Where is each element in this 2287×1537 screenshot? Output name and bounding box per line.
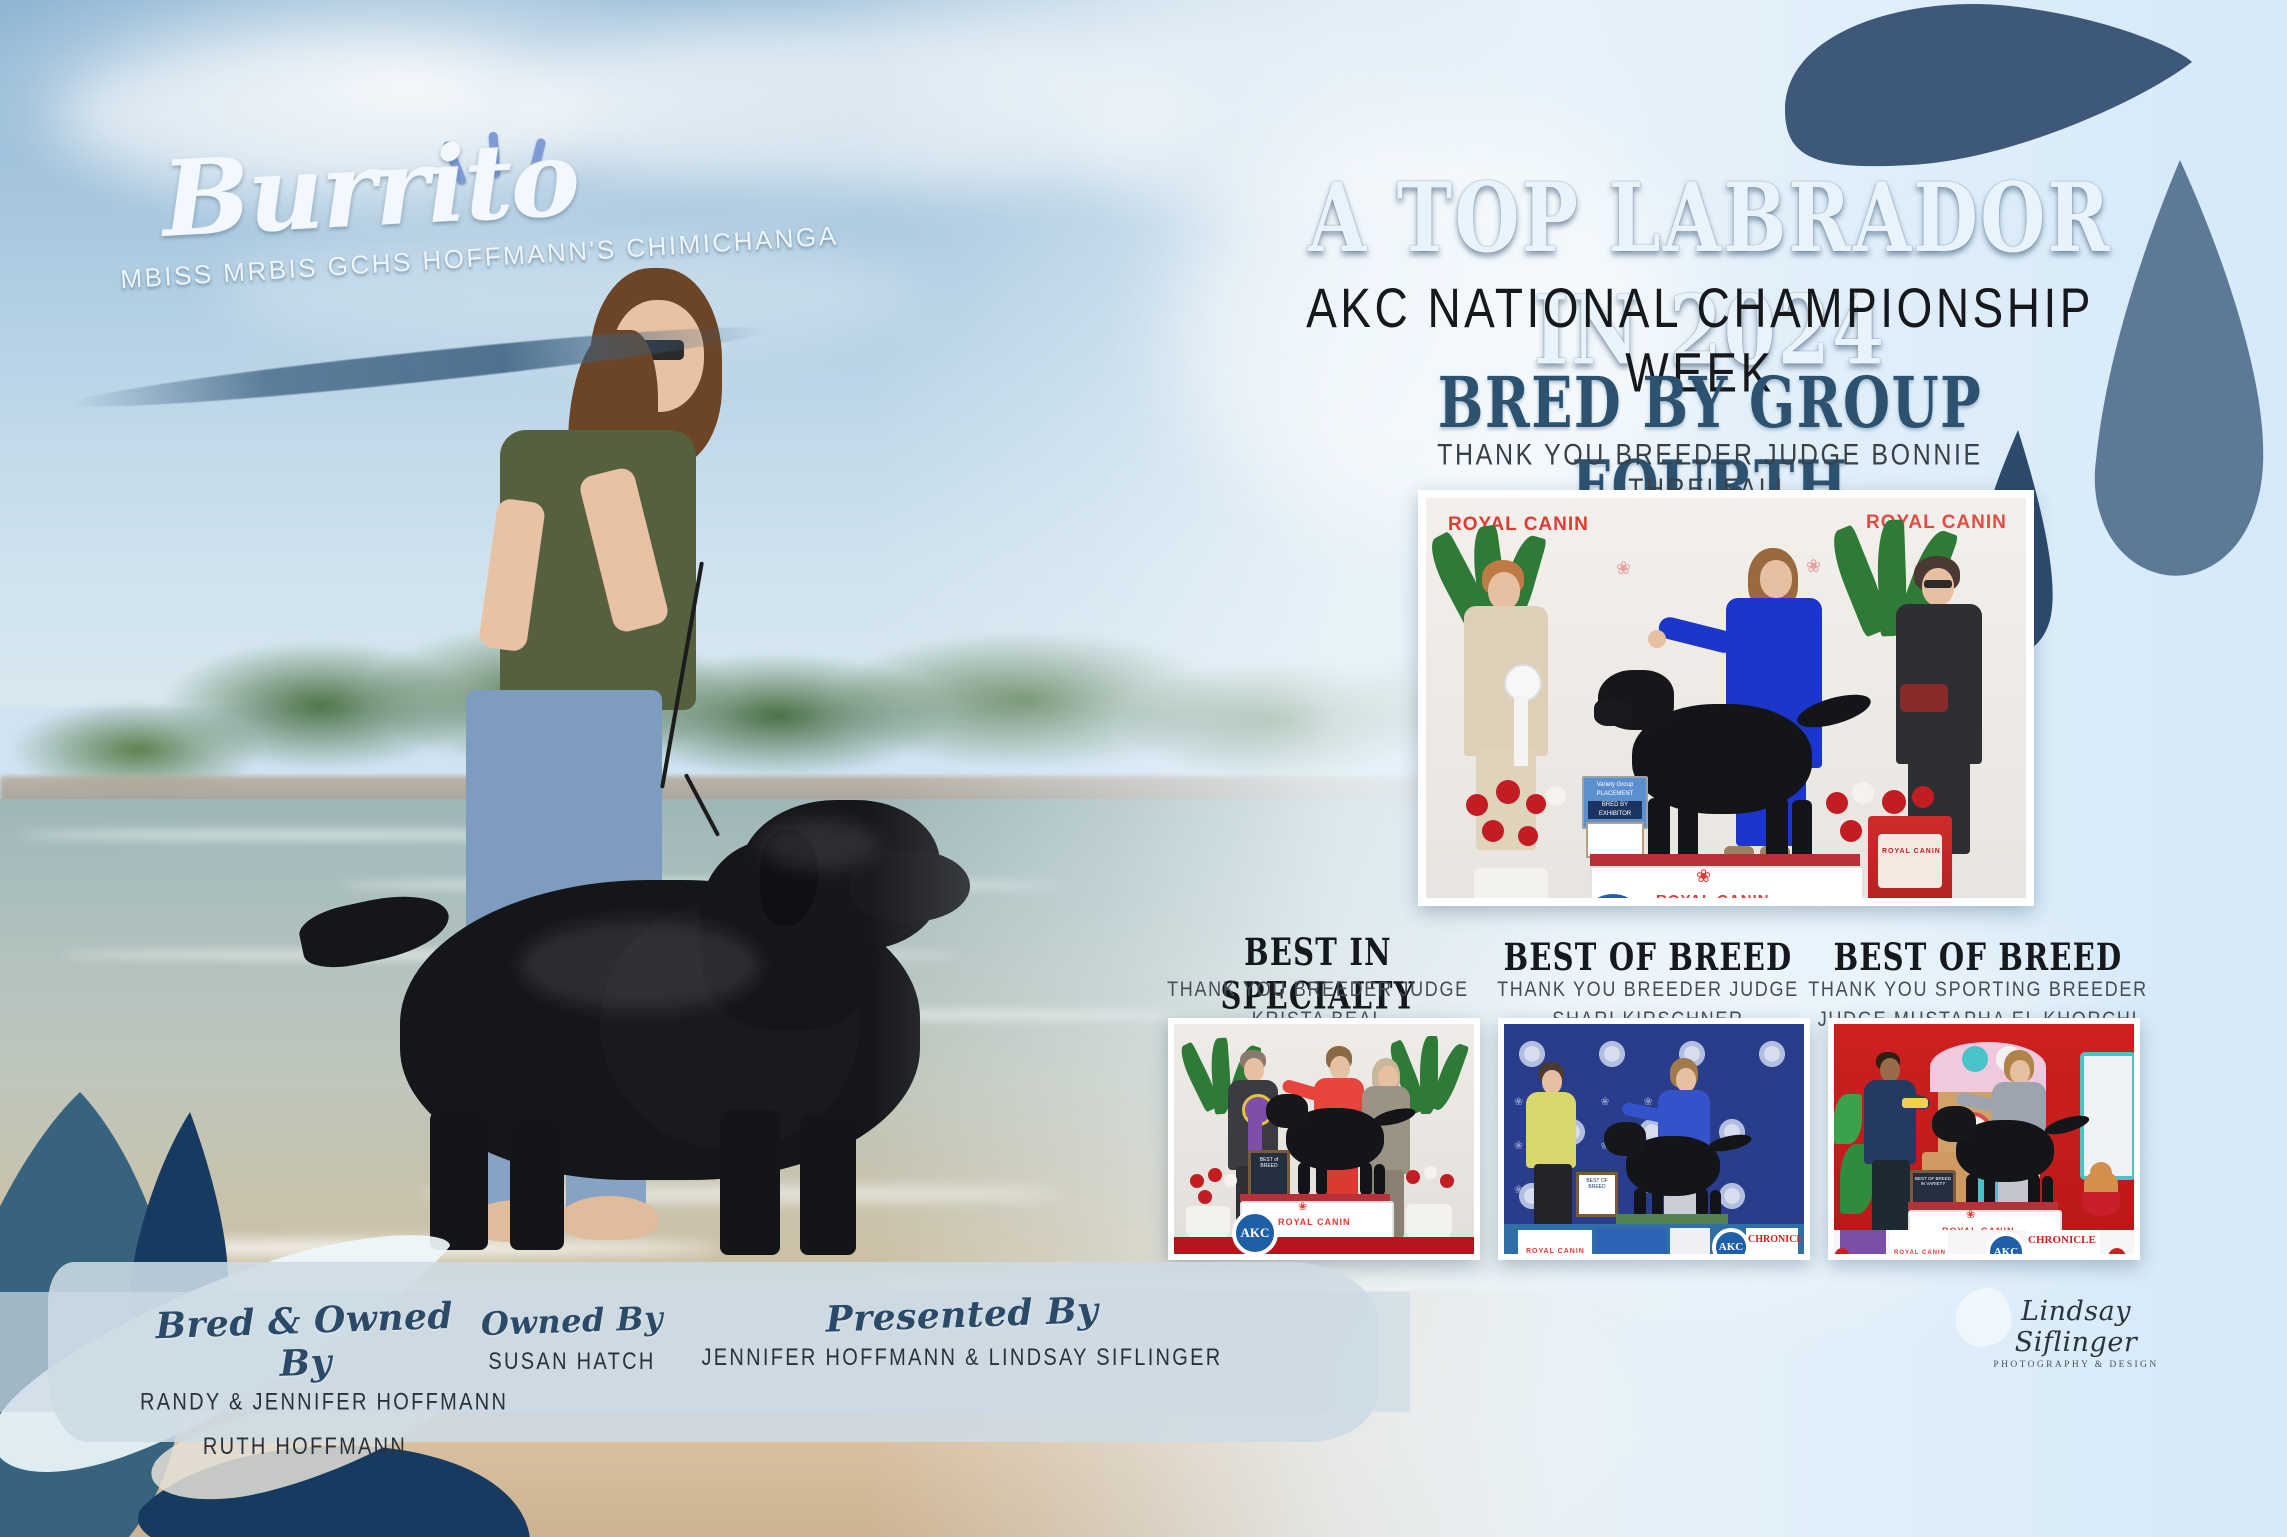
award-3-title: BEST OF BREED [1828,935,2128,979]
photographer-signature[interactable]: Lindsay Siflinger PHOTOGRAPHY & DESIGN [1961,1296,2191,1370]
sponsor-logo: ROYAL CANIN [1526,1248,1585,1254]
credit-names: JENNIFER HOFFMANN & LINDSAY SIFLINGER [662,1336,1262,1380]
award-sign: BEST of BREED [1248,1150,1290,1200]
sponsor-logo: ROYAL CANIN [1656,892,1770,898]
credit-owned-by: Owned By SUSAN HATCH [462,1302,682,1381]
credit-presented-by: Presented By JENNIFER HOFFMANN & LINDSAY… [662,1294,1262,1377]
signature-tagline: PHOTOGRAPHY & DESIGN [1961,1360,2191,1370]
award-1-photo[interactable]: BEST of BREED ROYAL CANIN ❀ AKC [1168,1018,1480,1260]
magazine-logo: CHRONICLE [1748,1234,1804,1245]
sponsor-logo: ROYAL CANIN [1448,514,1589,536]
sponsor-logo: ROYAL CANIN [1278,1217,1351,1227]
sponsor-logo: ROYAL CANIN [1882,848,1941,855]
akc-seal-badge: AKC [1712,1228,1750,1254]
credit-names: SUSAN HATCH [462,1340,682,1384]
akc-seal-badge: AKC [1986,1232,2026,1254]
brand-logo: Burrito MBISS MRBIS GCHS HOFFMANN'S CHIM… [120,140,620,280]
award-2-title: BEST OF BREED [1498,935,1798,979]
credit-bred-owned-by: Bred & Owned By RANDY & JENNIFER HOFFMAN… [140,1300,470,1462]
logo-script-name: Burrito [118,127,622,252]
feature-award-photo[interactable]: ROYAL CANIN ROYAL CANIN ❀ ❀ ❀ ❀ [1418,490,2034,906]
magazine-logo: CHRONICLE [2028,1234,2096,1246]
credit-label: Bred & Owned By [139,1294,472,1389]
poster-canvas: Burrito MBISS MRBIS GCHS HOFFMANN'S CHIM… [0,0,2287,1537]
akc-seal-badge: AKC [1232,1210,1278,1254]
credit-label: Owned By [461,1298,682,1344]
award-sign: BEST OF BREED [1576,1172,1618,1217]
award-3-photo[interactable]: BEST OF BREED IN VARIETY ROYAL CANIN ❀ R… [1828,1018,2140,1260]
sponsor-logo: ROYAL CANIN [1894,1250,1946,1254]
credit-names: RANDY & JENNIFER HOFFMANN RUTH HOFFMANN [140,1381,470,1470]
award-2-photo[interactable]: ❀❀❀❀ ❀❀❀❀ ❀❀❀❀ BEST OF BREED [1498,1018,1810,1260]
